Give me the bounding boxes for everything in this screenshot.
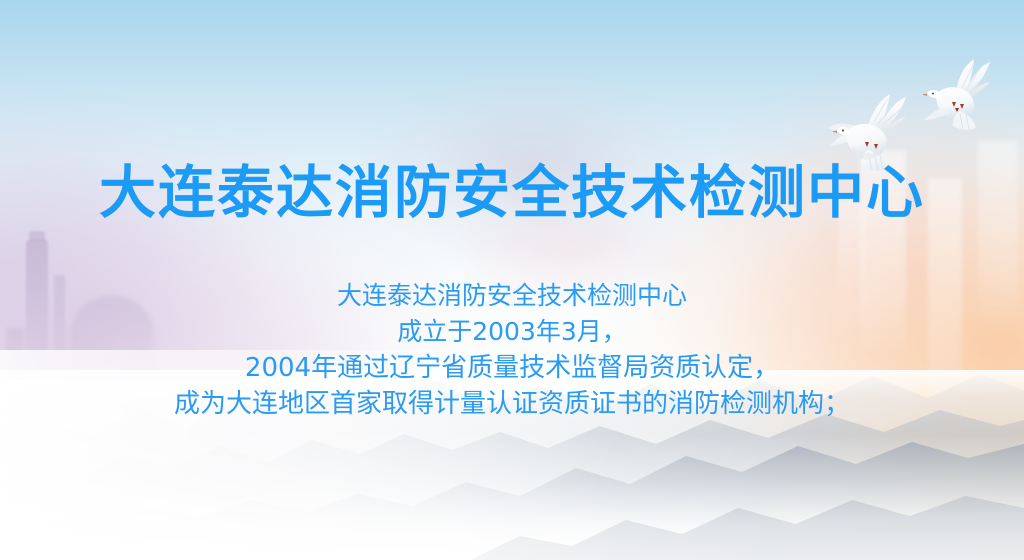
dove-icon bbox=[922, 58, 1008, 134]
description-line: 成立于2003年3月， bbox=[0, 314, 1024, 350]
page-title: 大连泰达消防安全技术检测中心 bbox=[0, 160, 1024, 226]
banner-slide: 大连泰达消防安全技术检测中心 大连泰达消防安全技术检测中心 成立于2003年3月… bbox=[0, 0, 1024, 560]
description-line: 成为大连地区首家取得计量认证资质证书的消防检测机构； bbox=[0, 386, 1024, 422]
description-line: 2004年通过辽宁省质量技术监督局资质认定， bbox=[0, 350, 1024, 386]
description-line: 大连泰达消防安全技术检测中心 bbox=[0, 278, 1024, 314]
description-block: 大连泰达消防安全技术检测中心 成立于2003年3月， 2004年通过辽宁省质量技… bbox=[0, 278, 1024, 422]
